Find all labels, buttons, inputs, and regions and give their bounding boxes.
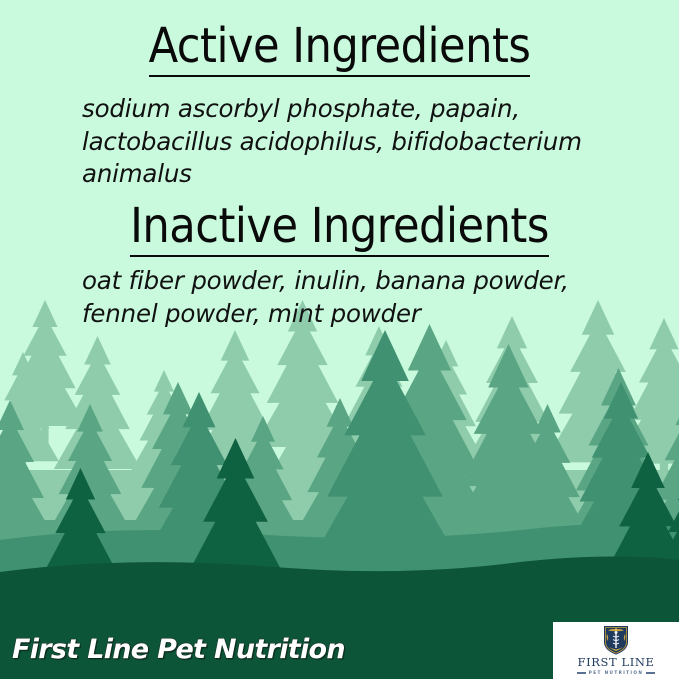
logo-tagline-row: PET NUTRITION: [577, 671, 655, 675]
inactive-ingredients-heading-text: Inactive Ingredients: [130, 202, 549, 257]
inactive-ingredients-heading: Inactive Ingredients: [0, 202, 679, 257]
brand-logo-card: FIRST LINE PET NUTRITION: [553, 622, 679, 679]
ingredients-poster: Active Ingredients sodium ascorbyl phosp…: [0, 0, 679, 679]
shield-crest-icon: [603, 625, 629, 655]
logo-brand-name: FIRST LINE: [577, 657, 654, 669]
active-ingredients-heading: Active Ingredients: [0, 22, 679, 77]
tagline-rule-left: [577, 672, 586, 674]
brand-wordmark: First Line Pet Nutrition: [12, 634, 345, 665]
logo-tagline: PET NUTRITION: [589, 671, 643, 675]
active-ingredients-heading-text: Active Ingredients: [149, 22, 531, 77]
tagline-rule-right: [646, 672, 655, 674]
inactive-ingredients-list: oat fiber powder, inulin, banana powder,…: [82, 265, 602, 330]
active-ingredients-list: sodium ascorbyl phosphate, papain, lacto…: [82, 93, 627, 191]
